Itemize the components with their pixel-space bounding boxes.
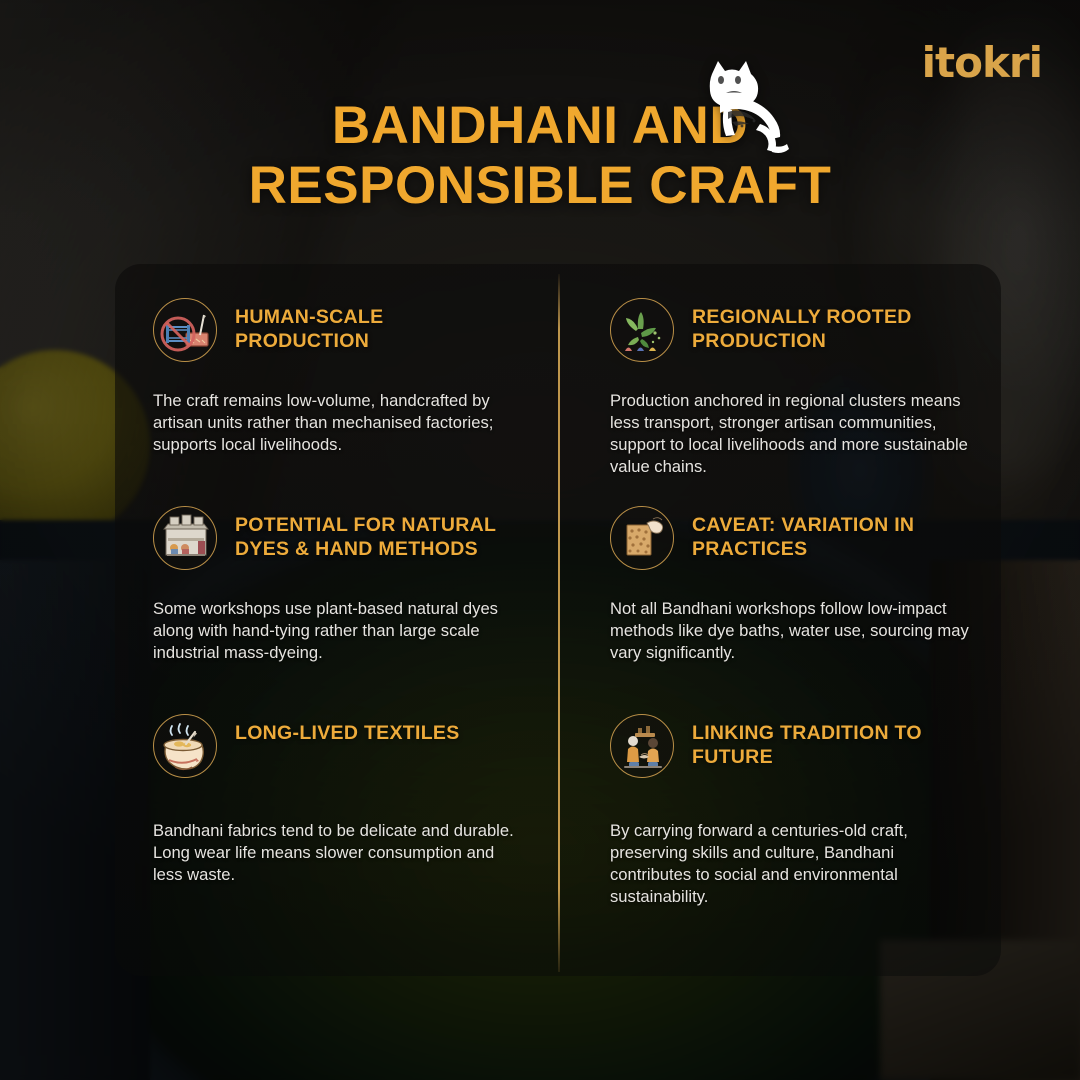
item-body: Production anchored in regional clusters… — [610, 390, 977, 478]
item-body: Bandhani fabrics tend to be delicate and… — [153, 820, 518, 886]
brand-logo[interactable]: itokri — [922, 42, 1042, 84]
steaming-dye-pot-icon — [153, 714, 217, 778]
item-header: REGIONALLY ROOTED PRODUCTION — [610, 296, 977, 362]
benefit-item-regionally-rooted-production: REGIONALLY ROOTED PRODUCTION Production … — [558, 264, 1001, 472]
item-header: CAVEAT: VARIATION IN PRACTICES — [610, 504, 977, 570]
title-line-2: RESPONSIBLE CRAFT — [0, 156, 1080, 216]
two-artisans-icon — [610, 714, 674, 778]
item-title: CAVEAT: VARIATION IN PRACTICES — [692, 504, 977, 561]
item-header: HUMAN-SCALE PRODUCTION — [153, 296, 518, 362]
item-body: Some workshops use plant-based natural d… — [153, 598, 518, 664]
brand-logo-text: itokri — [922, 38, 1042, 87]
item-header: POTENTIAL FOR NATURAL DYES & HAND METHOD… — [153, 504, 518, 570]
item-title: LONG-LIVED TEXTILES — [235, 712, 460, 745]
item-header: LINKING TRADITION TO FUTURE — [610, 712, 977, 778]
no-factory-icon — [153, 298, 217, 362]
item-title: HUMAN-SCALE PRODUCTION — [235, 296, 518, 353]
title-line-1: BANDHANI AND — [0, 96, 1080, 156]
benefit-item-long-lived-textiles: LONG-LIVED TEXTILES Bandhani fabrics ten… — [115, 680, 558, 976]
item-title: POTENTIAL FOR NATURAL DYES & HAND METHOD… — [235, 504, 518, 561]
item-body: Not all Bandhani workshops follow low-im… — [610, 598, 977, 664]
benefit-item-caveat-variation-in-practices: CAVEAT: VARIATION IN PRACTICES Not all B… — [558, 472, 1001, 680]
cat-illustration-icon — [690, 58, 794, 154]
infographic-poster: itokri BANDHANI AND RESPONSIBLE CRAFT — [0, 0, 1080, 1080]
item-body: By carrying forward a centuries-old craf… — [610, 820, 977, 908]
leaves-and-dye-powders-icon — [610, 298, 674, 362]
benefits-grid: HUMAN-SCALE PRODUCTION The craft remains… — [115, 264, 1001, 976]
item-title: LINKING TRADITION TO FUTURE — [692, 712, 977, 769]
hand-holding-fabric-icon — [610, 506, 674, 570]
benefit-item-natural-dyes-hand-methods: POTENTIAL FOR NATURAL DYES & HAND METHOD… — [115, 472, 558, 680]
item-body: The craft remains low-volume, handcrafte… — [153, 390, 518, 456]
item-title: REGIONALLY ROOTED PRODUCTION — [692, 296, 977, 353]
item-header: LONG-LIVED TEXTILES — [153, 712, 518, 778]
benefit-item-linking-tradition-to-future: LINKING TRADITION TO FUTURE By carrying … — [558, 680, 1001, 976]
benefit-item-human-scale-production: HUMAN-SCALE PRODUCTION The craft remains… — [115, 264, 558, 472]
workshop-building-icon — [153, 506, 217, 570]
poster-title: BANDHANI AND RESPONSIBLE CRAFT — [0, 96, 1080, 216]
